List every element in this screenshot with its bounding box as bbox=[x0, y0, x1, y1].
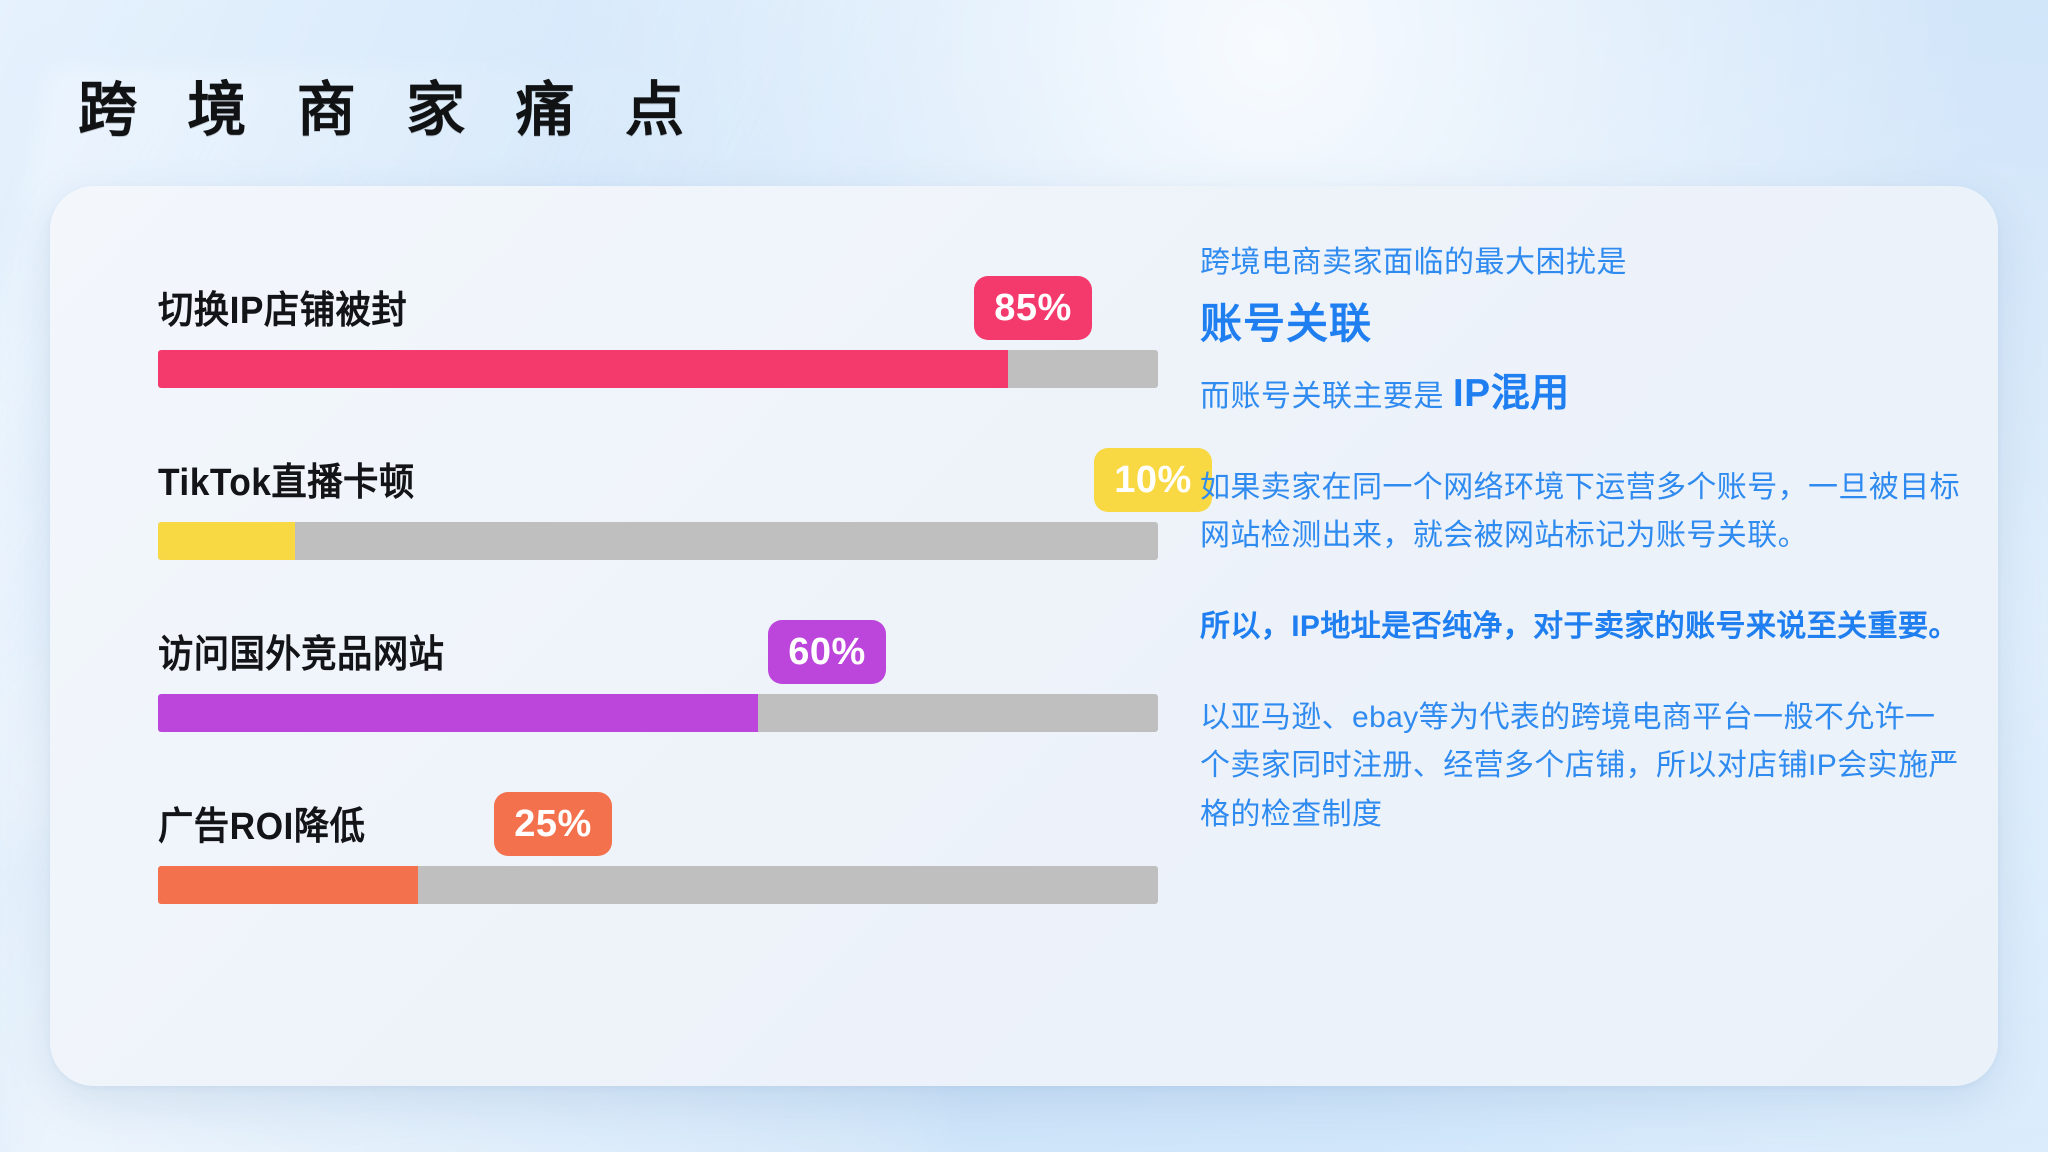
bar-fill bbox=[158, 866, 418, 904]
bar-value-badge: 10% bbox=[1094, 448, 1212, 512]
bar-header: 切换IP店铺被封 85% bbox=[108, 264, 1168, 336]
bar-label: 切换IP店铺被封 bbox=[158, 279, 407, 334]
lead-line-secondary-highlight: IP混用 bbox=[1453, 372, 1570, 415]
bar-fill bbox=[158, 522, 295, 560]
page-title: 跨 境 商 家 痛 点 bbox=[78, 62, 701, 147]
bar-track bbox=[158, 694, 1158, 732]
bar-header: TikTok直播卡顿 10% bbox=[108, 436, 1168, 508]
pain-point-bar-chart: 切换IP店铺被封 85% TikTok直播卡顿 10% 访问国外竞品网站 60% bbox=[108, 264, 1168, 904]
bar-label: TikTok直播卡顿 bbox=[158, 451, 415, 506]
bar-group: 访问国外竞品网站 60% bbox=[108, 608, 1168, 732]
bar-label: 访问国外竞品网站 bbox=[158, 623, 444, 678]
lead-line: 跨境电商卖家面临的最大困扰是 bbox=[1200, 242, 1960, 285]
paragraph: 所以，IP地址是否纯净，对于卖家的账号来说至关重要。 bbox=[1200, 603, 1960, 652]
bar-value-badge: 85% bbox=[974, 276, 1092, 340]
bar-group: 切换IP店铺被封 85% bbox=[108, 264, 1168, 388]
paragraph: 以亚马逊、ebay等为代表的跨境电商平台一般不允许一个卖家同时注册、经营多个店铺… bbox=[1200, 694, 1960, 840]
lead-line-secondary-prefix: 而账号关联主要是 bbox=[1200, 380, 1453, 413]
bar-track bbox=[158, 522, 1158, 560]
bar-group: 广告ROI降低 25% bbox=[108, 780, 1168, 904]
paragraph: 如果卖家在同一个网络环境下运营多个账号，一旦被目标网站检测出来，就会被网站标记为… bbox=[1200, 464, 1960, 561]
lead-line-secondary: 而账号关联主要是 IP混用 bbox=[1200, 366, 1960, 421]
bar-value-badge: 25% bbox=[494, 792, 612, 856]
explanation-column: 跨境电商卖家面临的最大困扰是 账号关联 而账号关联主要是 IP混用 如果卖家在同… bbox=[1200, 242, 1960, 839]
bar-label: 广告ROI降低 bbox=[158, 795, 365, 850]
bar-header: 广告ROI降低 25% bbox=[108, 780, 1168, 852]
lead-highlight: 账号关联 bbox=[1200, 297, 1960, 351]
bar-header: 访问国外竞品网站 60% bbox=[108, 608, 1168, 680]
bar-fill bbox=[158, 350, 1008, 388]
bar-track bbox=[158, 350, 1158, 388]
content-card: 切换IP店铺被封 85% TikTok直播卡顿 10% 访问国外竞品网站 60% bbox=[50, 186, 1998, 1086]
bar-group: TikTok直播卡顿 10% bbox=[108, 436, 1168, 560]
bar-fill bbox=[158, 694, 758, 732]
bar-track bbox=[158, 866, 1158, 904]
bar-value-badge: 60% bbox=[768, 620, 886, 684]
